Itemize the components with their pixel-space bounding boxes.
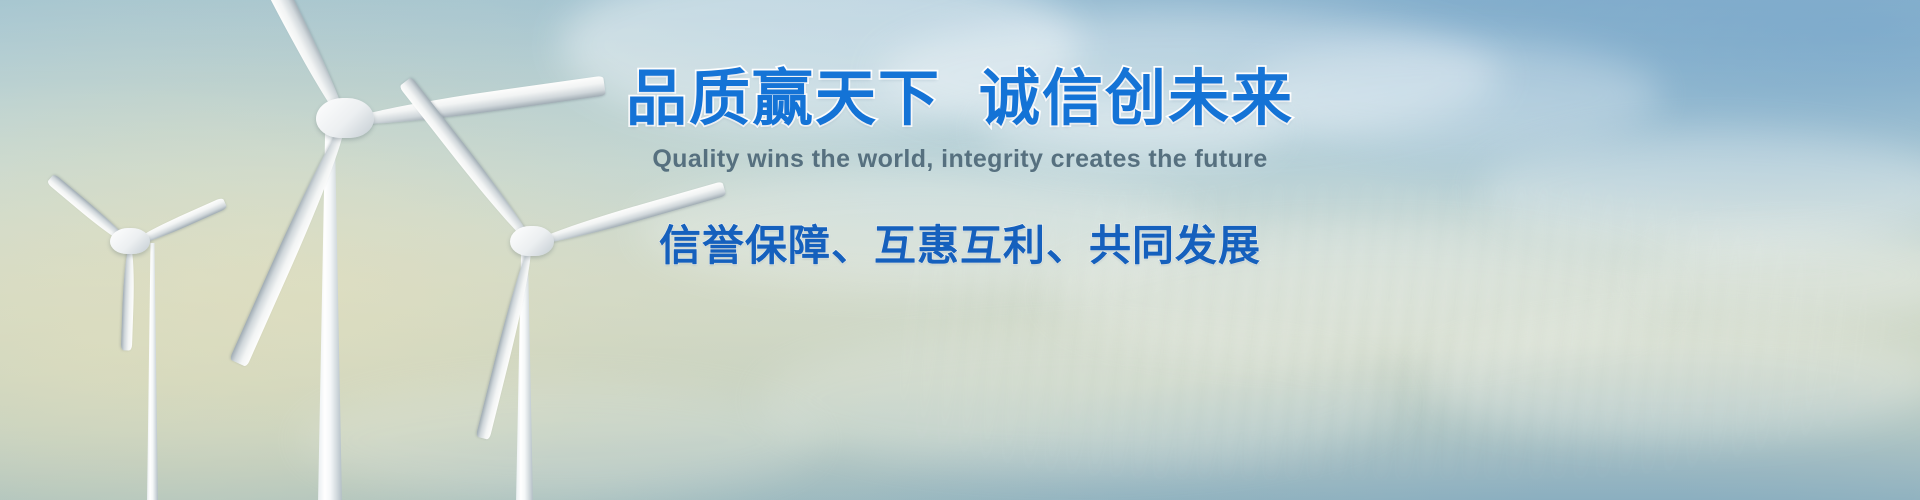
turbine-blade [121, 246, 136, 350]
turbine-hub [316, 98, 374, 138]
turbine-hub [510, 226, 554, 256]
promotional-banner: 品质赢天下 诚信创未来 Quality wins the world, inte… [0, 0, 1920, 500]
wind-turbine-layer [0, 0, 1920, 500]
turbine-hub [110, 228, 150, 254]
turbine-blade [344, 76, 606, 132]
turbine-tower [147, 243, 158, 500]
turbine-blade [530, 181, 726, 251]
